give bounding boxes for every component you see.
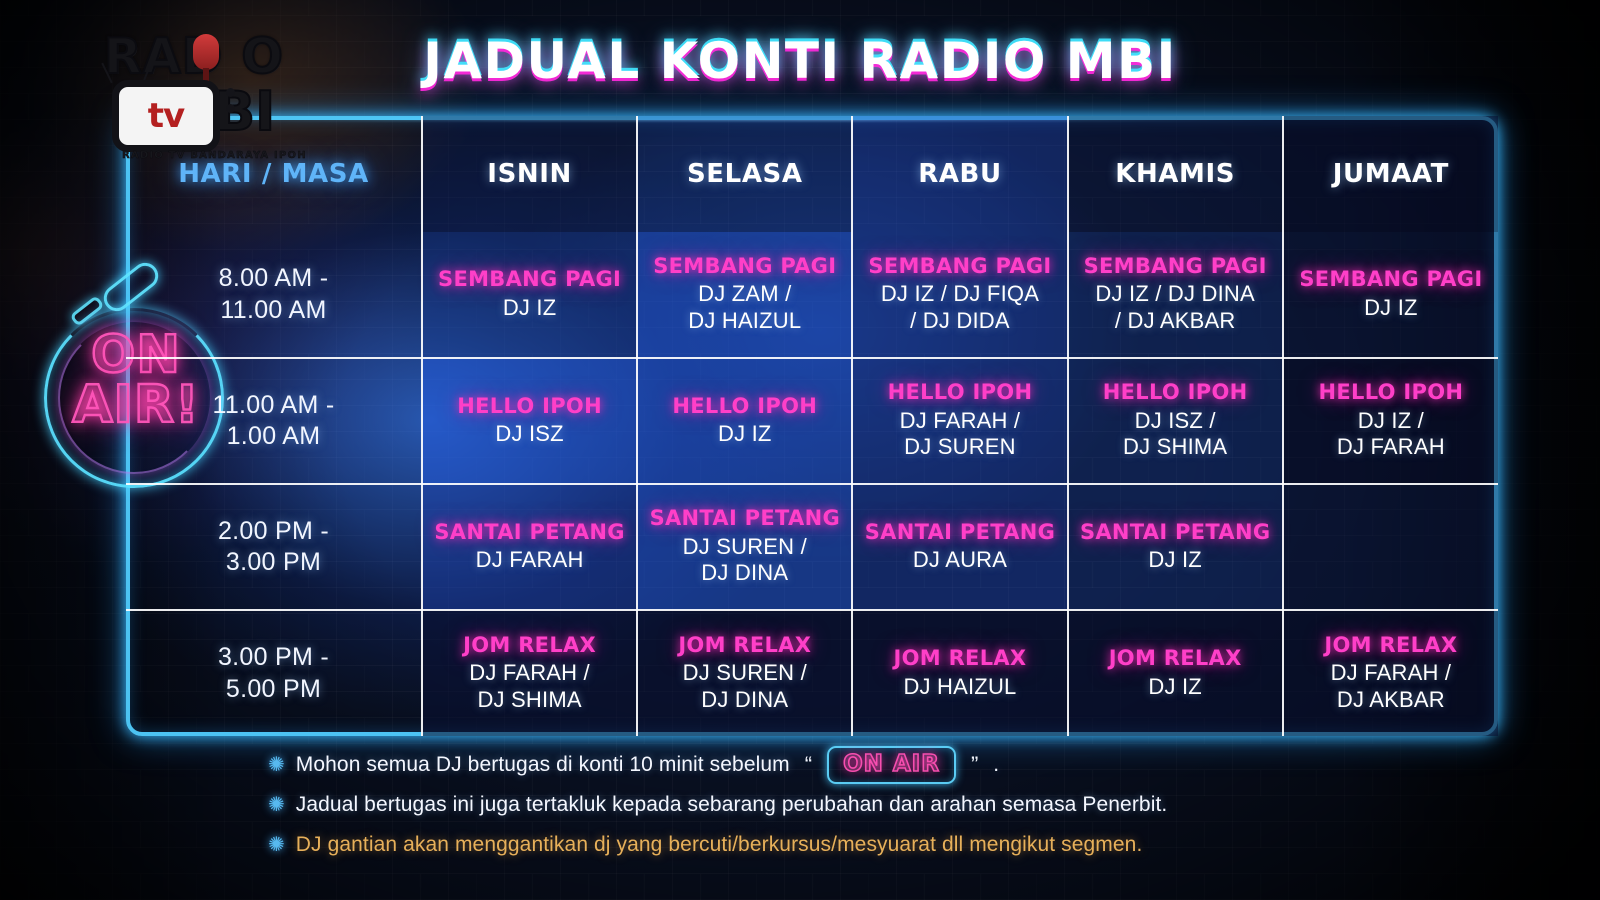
show-name: JOM RELAX <box>429 634 630 658</box>
time-slot-cell: 11.00 AM -1.00 AM <box>126 358 422 484</box>
show-name: SEMBANG PAGI <box>1290 268 1492 292</box>
schedule-cell: SANTAI PETANGDJ IZ <box>1068 484 1283 610</box>
schedule-cell: HELLO IPOHDJ IZ /DJ FARAH <box>1283 358 1498 484</box>
dj-names: DJ ISZ <box>429 421 630 447</box>
on-air-badge: ON AIR <box>827 746 956 784</box>
table-row: 2.00 PM -3.00 PMSANTAI PETANGDJ FARAHSAN… <box>126 484 1498 610</box>
note-1-period: . <box>993 753 999 777</box>
schedule-cell: SEMBANG PAGIDJ IZ <box>422 232 637 358</box>
show-name: HELLO IPOH <box>644 395 845 419</box>
show-name: SANTAI PETANG <box>1075 521 1276 545</box>
dj-names: DJ ZAM /DJ HAIZUL <box>644 281 845 334</box>
footer-notes: ✺ Mohon semua DJ bertugas di konti 10 mi… <box>268 748 1468 868</box>
dj-names: DJ FARAH /DJ AKBAR <box>1290 660 1492 713</box>
schedule-cell: HELLO IPOHDJ ISZ <box>422 358 637 484</box>
schedule-table: HARI / MASA ISNIN SELASA RABU KHAMIS JUM… <box>126 116 1498 736</box>
table-header-row: HARI / MASA ISNIN SELASA RABU KHAMIS JUM… <box>126 116 1498 232</box>
asterisk-icon: ✺ <box>268 755 285 775</box>
time-slot-cell: 2.00 PM -3.00 PM <box>126 484 422 610</box>
dj-names: DJ IZ /DJ FARAH <box>1290 408 1492 461</box>
show-name: HELLO IPOH <box>1075 381 1276 405</box>
show-name: HELLO IPOH <box>1290 381 1492 405</box>
show-name: SEMBANG PAGI <box>1075 255 1276 279</box>
schedule-cell: SEMBANG PAGIDJ IZ / DJ DINA/ DJ AKBAR <box>1068 232 1283 358</box>
asterisk-icon: ✺ <box>268 795 285 815</box>
dj-names: DJ IZ <box>429 295 630 321</box>
schedule-cell: SEMBANG PAGIDJ IZ <box>1283 232 1498 358</box>
dj-names: DJ IZ <box>1075 674 1276 700</box>
schedule-cell: JOM RELAXDJ SUREN /DJ DINA <box>637 610 852 736</box>
dj-names: DJ AURA <box>859 547 1060 573</box>
dj-names: DJ ISZ /DJ SHIMA <box>1075 408 1276 461</box>
dj-names: DJ SUREN /DJ DINA <box>644 534 845 587</box>
dj-names: DJ IZ <box>1290 295 1492 321</box>
dj-names: DJ HAIZUL <box>859 674 1060 700</box>
show-name: SANTAI PETANG <box>429 521 630 545</box>
schedule-cell: JOM RELAXDJ HAIZUL <box>852 610 1067 736</box>
column-header-isnin: ISNIN <box>422 116 637 232</box>
tv-set-icon: tv <box>112 80 220 152</box>
dj-names: DJ IZ / DJ FIQA/ DJ DIDA <box>859 281 1060 334</box>
page-title: JADUAL KONTI RADIO MBI <box>0 32 1600 90</box>
note-1-text: Mohon semua DJ bertugas di konti 10 mini… <box>296 753 790 777</box>
schedule-cell: JOM RELAXDJ IZ <box>1068 610 1283 736</box>
show-name: SANTAI PETANG <box>644 507 845 531</box>
quote-close: ” <box>971 752 978 778</box>
time-line-1: 8.00 AM - <box>219 264 329 292</box>
time-line-2: 3.00 PM <box>226 548 321 576</box>
logo-tv-label: tv <box>148 96 184 136</box>
asterisk-icon: ✺ <box>268 835 285 855</box>
note-3-text: DJ gantian akan menggantikan dj yang ber… <box>296 833 1143 857</box>
show-name: SEMBANG PAGI <box>644 255 845 279</box>
column-header-selasa: SELASA <box>637 116 852 232</box>
show-name: HELLO IPOH <box>429 395 630 419</box>
note-row-2: ✺ Jadual bertugas ini juga tertakluk kep… <box>268 788 1468 822</box>
show-name: SANTAI PETANG <box>859 521 1060 545</box>
quote-open: “ <box>805 752 812 778</box>
note-row-3: ✺ DJ gantian akan menggantikan dj yang b… <box>268 828 1468 862</box>
dj-names: DJ IZ / DJ DINA/ DJ AKBAR <box>1075 281 1276 334</box>
schedule-cell: JOM RELAXDJ FARAH /DJ AKBAR <box>1283 610 1498 736</box>
show-name: HELLO IPOH <box>859 381 1060 405</box>
show-name: JOM RELAX <box>859 647 1060 671</box>
table-row: 8.00 AM -11.00 AMSEMBANG PAGIDJ IZSEMBAN… <box>126 232 1498 358</box>
schedule-cell: SANTAI PETANGDJ SUREN /DJ DINA <box>637 484 852 610</box>
column-header-jumaat: JUMAAT <box>1283 116 1498 232</box>
time-slot-cell: 8.00 AM -11.00 AM <box>126 232 422 358</box>
schedule-cell <box>1283 484 1498 610</box>
time-line-2: 1.00 AM <box>227 422 321 450</box>
dj-names: DJ SUREN /DJ DINA <box>644 660 845 713</box>
dj-names: DJ IZ <box>644 421 845 447</box>
schedule-cell: HELLO IPOHDJ FARAH /DJ SUREN <box>852 358 1067 484</box>
column-header-rabu: RABU <box>852 116 1067 232</box>
logo-tagline: RADIO TV BANDARAYA IPOH <box>122 150 307 161</box>
table-row: 3.00 PM -5.00 PMJOM RELAXDJ FARAH /DJ SH… <box>126 610 1498 736</box>
schedule-cell: SANTAI PETANGDJ AURA <box>852 484 1067 610</box>
column-header-khamis: KHAMIS <box>1068 116 1283 232</box>
dj-names: DJ FARAH /DJ SUREN <box>859 408 1060 461</box>
show-name: SEMBANG PAGI <box>859 255 1060 279</box>
schedule-cell: SEMBANG PAGIDJ ZAM /DJ HAIZUL <box>637 232 852 358</box>
tv-knob-bottom-icon <box>226 104 235 113</box>
time-line-1: 2.00 PM - <box>218 517 329 545</box>
show-name: JOM RELAX <box>644 634 845 658</box>
show-name: SEMBANG PAGI <box>429 268 630 292</box>
show-name: JOM RELAX <box>1290 634 1492 658</box>
note-2-text: Jadual bertugas ini juga tertakluk kepad… <box>296 793 1168 817</box>
schedule-table-body: 8.00 AM -11.00 AMSEMBANG PAGIDJ IZSEMBAN… <box>126 232 1498 736</box>
schedule-poster: RAD O BI tv RADIO TV BANDARAYA IPOH JADU… <box>0 0 1600 900</box>
time-line-1: 11.00 AM - <box>212 391 334 419</box>
schedule-cell: HELLO IPOHDJ ISZ /DJ SHIMA <box>1068 358 1283 484</box>
time-line-2: 5.00 PM <box>226 675 321 703</box>
dj-names: DJ IZ <box>1075 547 1276 573</box>
show-name: JOM RELAX <box>1075 647 1276 671</box>
schedule-cell: SEMBANG PAGIDJ IZ / DJ FIQA/ DJ DIDA <box>852 232 1067 358</box>
schedule-cell: JOM RELAXDJ FARAH /DJ SHIMA <box>422 610 637 736</box>
table-row: 11.00 AM -1.00 AMHELLO IPOHDJ ISZHELLO I… <box>126 358 1498 484</box>
time-slot-cell: 3.00 PM -5.00 PM <box>126 610 422 736</box>
time-line-1: 3.00 PM - <box>218 643 329 671</box>
schedule-cell: HELLO IPOHDJ IZ <box>637 358 852 484</box>
note-row-1: ✺ Mohon semua DJ bertugas di konti 10 mi… <box>268 748 1468 782</box>
dj-names: DJ FARAH <box>429 547 630 573</box>
dj-names: DJ FARAH /DJ SHIMA <box>429 660 630 713</box>
schedule-cell: SANTAI PETANGDJ FARAH <box>422 484 637 610</box>
time-line-2: 11.00 AM <box>220 296 326 324</box>
